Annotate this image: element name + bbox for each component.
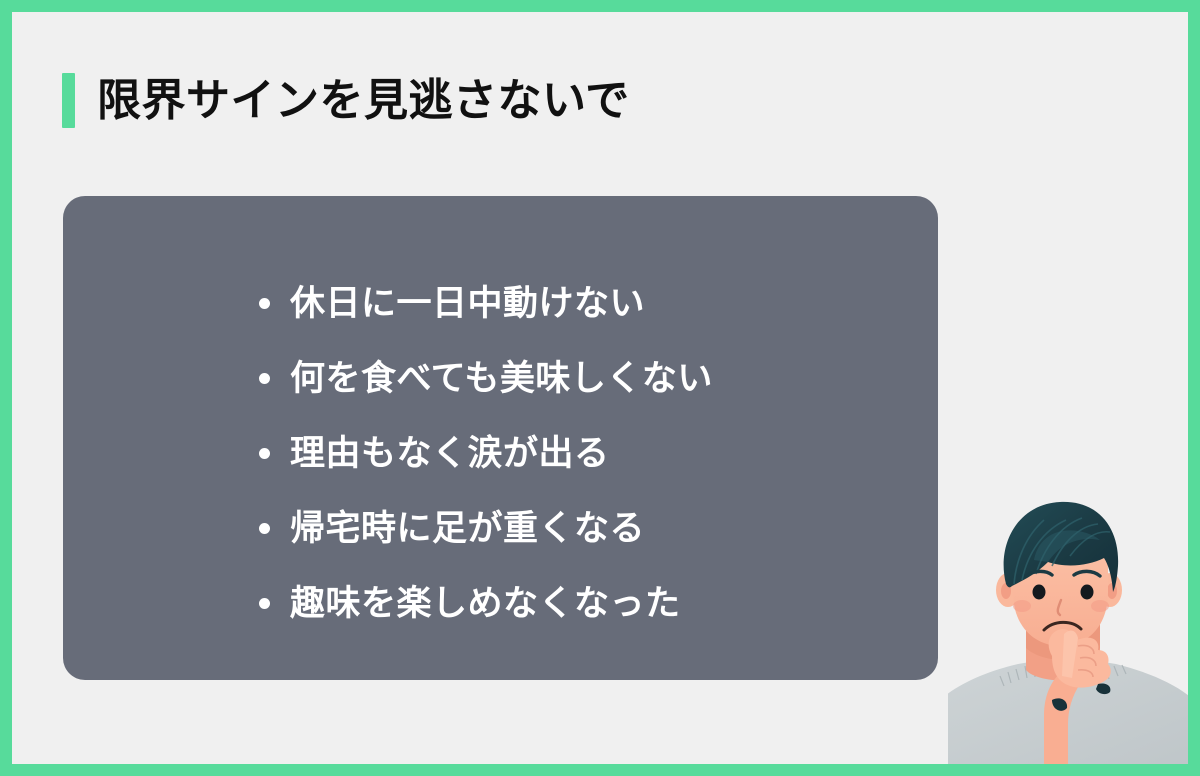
- slide-frame: 限界サインを見逃さないで 休日に一日中動けない 何を食べても美味しくない 理由も…: [0, 0, 1200, 776]
- list-item-label: 帰宅時に足が重くなる: [290, 511, 645, 546]
- slide-canvas: 限界サインを見逃さないで 休日に一日中動けない 何を食べても美味しくない 理由も…: [12, 12, 1188, 764]
- bullet-dot-icon: [259, 373, 270, 384]
- list-item: 休日に一日中動けない: [259, 266, 713, 341]
- page-title: 限界サインを見逃さないで: [62, 73, 630, 128]
- title-accent-bar: [62, 73, 75, 128]
- eye-left: [1033, 585, 1046, 600]
- list-item-label: 休日に一日中動けない: [290, 286, 645, 321]
- bullet-dot-icon: [259, 523, 270, 534]
- list-item-label: 理由もなく涙が出る: [290, 436, 610, 471]
- list-item: 何を食べても美味しくない: [259, 341, 713, 416]
- eye-right: [1081, 585, 1094, 600]
- bullet-dot-icon: [259, 448, 270, 459]
- bullet-dot-icon: [259, 298, 270, 309]
- cheek-left: [1013, 600, 1031, 612]
- worried-man-illustration: [948, 488, 1188, 764]
- bullet-dot-icon: [259, 598, 270, 609]
- list-item: 理由もなく涙が出る: [259, 416, 713, 491]
- list-item-label: 何を食べても美味しくない: [290, 361, 713, 396]
- content-card: 休日に一日中動けない 何を食べても美味しくない 理由もなく涙が出る 帰宅時に足が…: [63, 196, 938, 680]
- list-item-label: 趣味を楽しめなくなった: [290, 586, 681, 621]
- title-label: 限界サインを見逃さないで: [97, 79, 630, 123]
- list-item: 帰宅時に足が重くなる: [259, 491, 713, 566]
- cheek-right: [1091, 600, 1109, 612]
- list-item: 趣味を楽しめなくなった: [259, 566, 713, 641]
- symptom-list: 休日に一日中動けない 何を食べても美味しくない 理由もなく涙が出る 帰宅時に足が…: [259, 266, 713, 641]
